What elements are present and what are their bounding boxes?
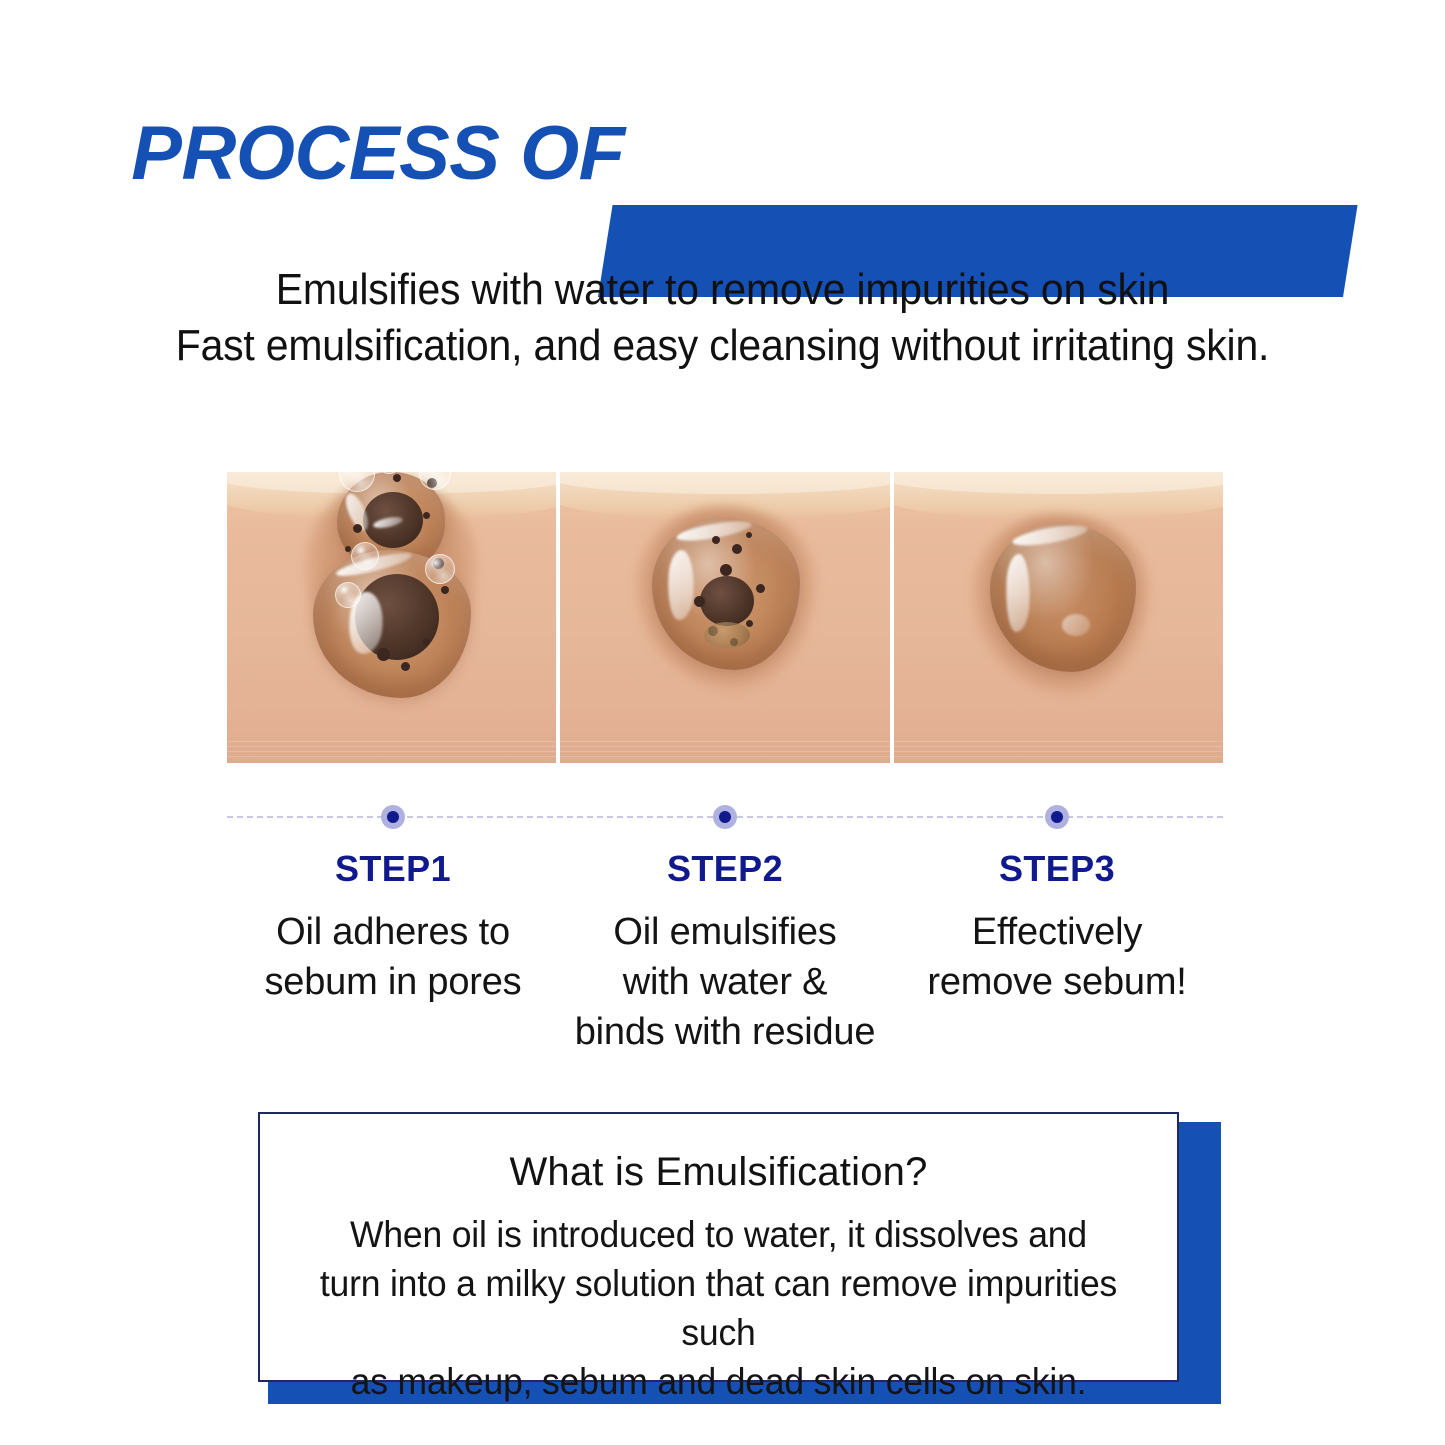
- dermis-texture-lines: [560, 737, 889, 759]
- water-bubble: [335, 582, 361, 608]
- subtitle: Emulsifies with water to remove impuriti…: [51, 262, 1395, 374]
- step-column-2: STEP2 Oil emulsifies with water & binds …: [559, 845, 891, 1057]
- page-title-part-b: PORE CLEANSING: [625, 111, 1314, 196]
- page-title-block: PROCESS OFPORE CLEANSING: [0, 98, 1445, 210]
- step-desc-line: Oil emulsifies: [559, 907, 891, 957]
- steps-list: STEP1 Oil adheres to sebum in pores STEP…: [227, 845, 1223, 1057]
- debris-speck: [393, 474, 401, 482]
- subtitle-line-2: Fast emulsification, and easy cleansing …: [51, 318, 1395, 374]
- residue-cluster-step2: [704, 622, 750, 648]
- page-title: PROCESS OFPORE CLEANSING: [0, 98, 1445, 210]
- subtitle-line-1: Emulsifies with water to remove impuriti…: [51, 262, 1395, 318]
- step-desc-line: sebum in pores: [227, 957, 559, 1007]
- step-desc-line: remove sebum!: [891, 957, 1223, 1007]
- callout-body-line: When oil is introduced to water, it diss…: [278, 1210, 1158, 1259]
- dermis-texture-lines: [894, 737, 1223, 759]
- step-label-2: STEP2: [559, 845, 891, 893]
- callout-body: When oil is introduced to water, it diss…: [278, 1210, 1158, 1406]
- dermis-texture-lines: [227, 737, 556, 759]
- step-description-1: Oil adheres to sebum in pores: [227, 907, 559, 1007]
- callout-body-line: turn into a milky solution that can remo…: [278, 1259, 1158, 1357]
- debris-speck: [423, 638, 430, 645]
- illustration-panel-step1: [227, 472, 556, 763]
- step-desc-line: with water &: [559, 957, 891, 1007]
- water-bubble: [351, 542, 379, 570]
- step-column-1: STEP1 Oil adheres to sebum in pores: [227, 845, 559, 1057]
- step-description-2: Oil emulsifies with water & binds with r…: [559, 907, 891, 1057]
- debris-speck: [423, 512, 430, 519]
- timeline-marker-step3: [1045, 805, 1069, 829]
- debris-speck: [441, 586, 449, 594]
- step-column-3: STEP3 Effectively remove sebum!: [891, 845, 1223, 1057]
- illustration-panel-step2: [560, 472, 889, 763]
- illustration-panel-step3: [894, 472, 1223, 763]
- step-desc-line: Oil adheres to: [227, 907, 559, 957]
- timeline-marker-step1: [381, 805, 405, 829]
- timeline-marker-step2: [713, 805, 737, 829]
- debris-speck: [353, 524, 362, 533]
- pore-cleansing-illustration-strip: [227, 472, 1223, 763]
- callout-body-line: as makeup, sebum and dead skin cells on …: [278, 1357, 1158, 1406]
- steps-timeline: [227, 816, 1223, 820]
- step-desc-line: binds with residue: [559, 1007, 891, 1057]
- gloss-spot-step3: [1062, 614, 1090, 636]
- page-title-part-a: PROCESS OF: [131, 111, 624, 196]
- debris-speck: [401, 662, 410, 671]
- debris-speck: [345, 546, 351, 552]
- step-desc-line: Effectively: [891, 907, 1223, 957]
- callout-heading: What is Emulsification?: [260, 1148, 1177, 1196]
- step-label-3: STEP3: [891, 845, 1223, 893]
- debris-speck: [377, 648, 390, 661]
- step-label-1: STEP1: [227, 845, 559, 893]
- callout-box: What is Emulsification? When oil is intr…: [258, 1112, 1179, 1382]
- step-description-3: Effectively remove sebum!: [891, 907, 1223, 1007]
- water-bubble: [425, 554, 455, 584]
- sebum-plug-step2: [700, 576, 754, 626]
